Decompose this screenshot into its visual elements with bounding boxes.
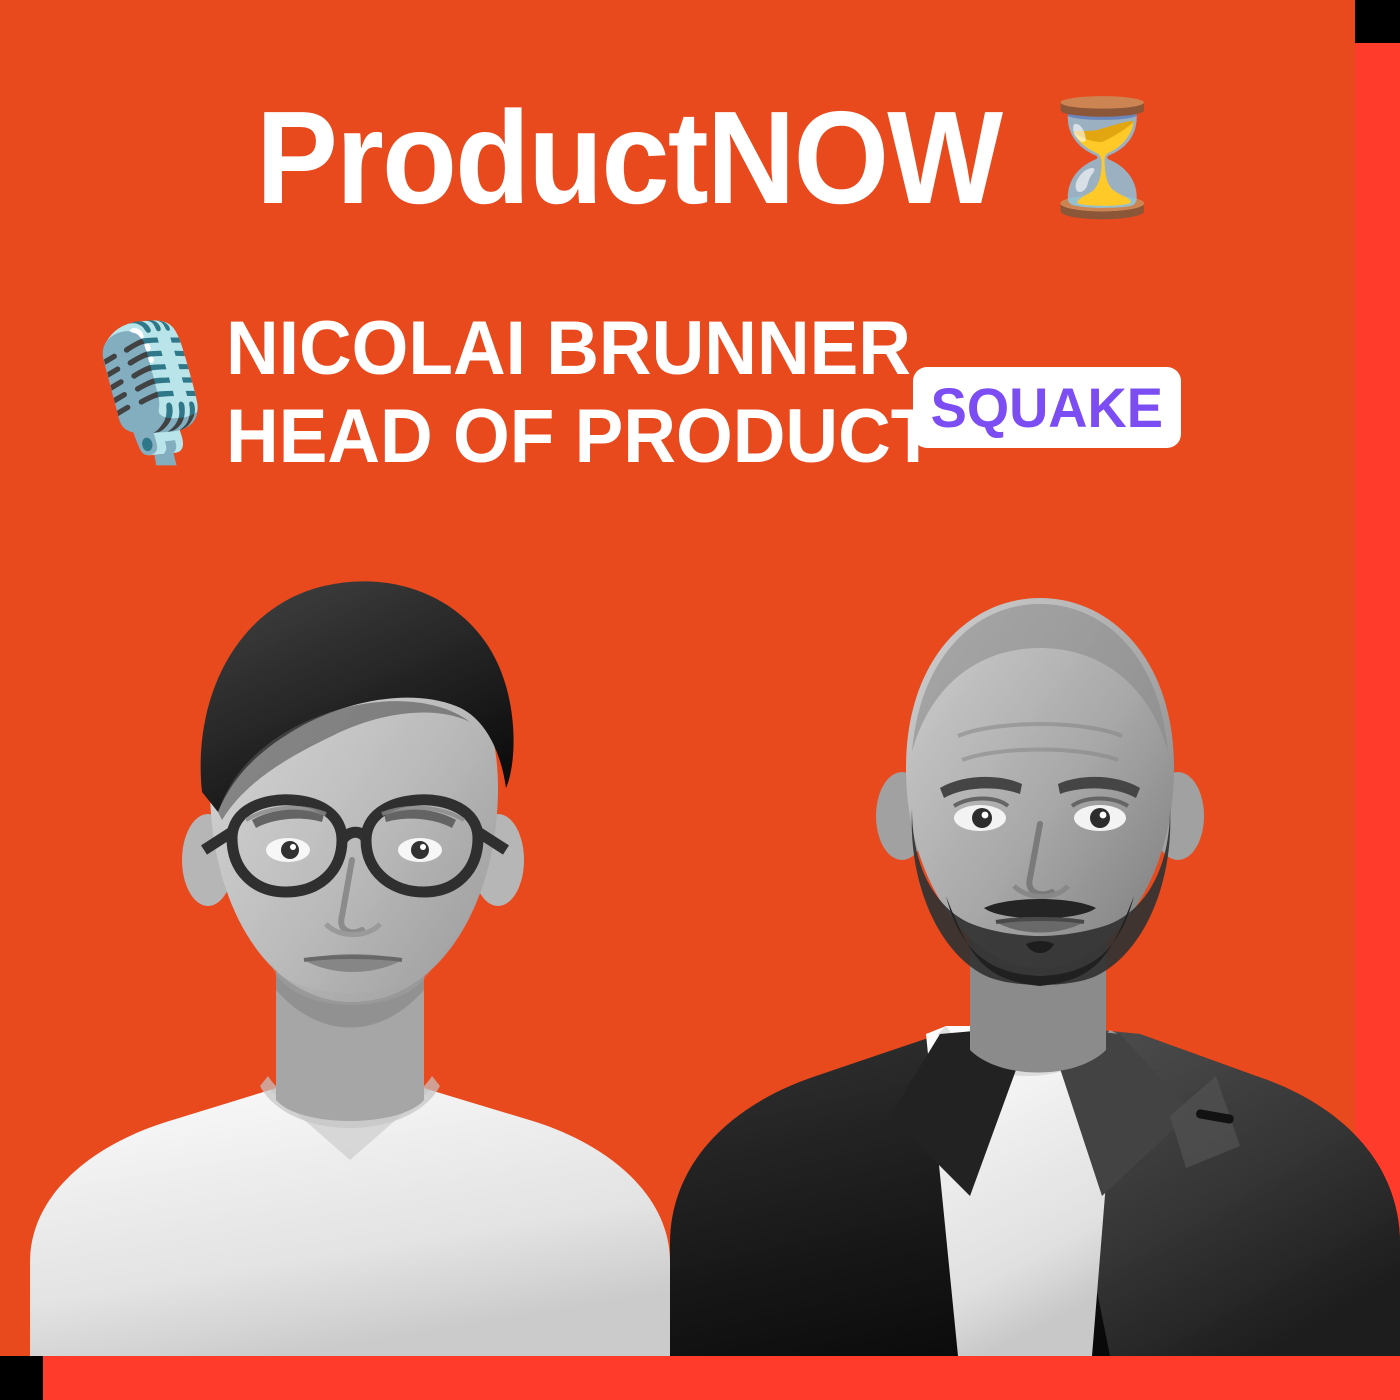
speaker-name: NICOLAI BRUNNER [226, 305, 935, 393]
bottom-red-accent-bar [0, 1356, 1400, 1400]
speaker-name-group: NICOLAI BRUNNER HEAD OF PRODUCT [226, 305, 965, 481]
company-badge-label: SQUAKE [931, 380, 1163, 436]
top-right-black-corner [1355, 0, 1400, 43]
bottom-left-black-corner [0, 1356, 43, 1400]
portrait-left [0, 520, 730, 1356]
portraits-group [0, 520, 1400, 1356]
studio-microphone-icon: 🎙️ [68, 327, 198, 459]
portrait-right [640, 556, 1400, 1356]
hourglass-icon: ⏳ [1033, 102, 1172, 214]
show-title-row: ProductNOW ⏳ [0, 92, 1400, 224]
page-title: ProductNOW [256, 92, 1001, 224]
company-badge: SQUAKE [913, 367, 1181, 448]
speaker-role: HEAD OF PRODUCT [226, 393, 935, 481]
podcast-promo-poster: ProductNOW ⏳ 🎙️ NICOLAI BRUNNER HEAD OF … [0, 0, 1400, 1400]
